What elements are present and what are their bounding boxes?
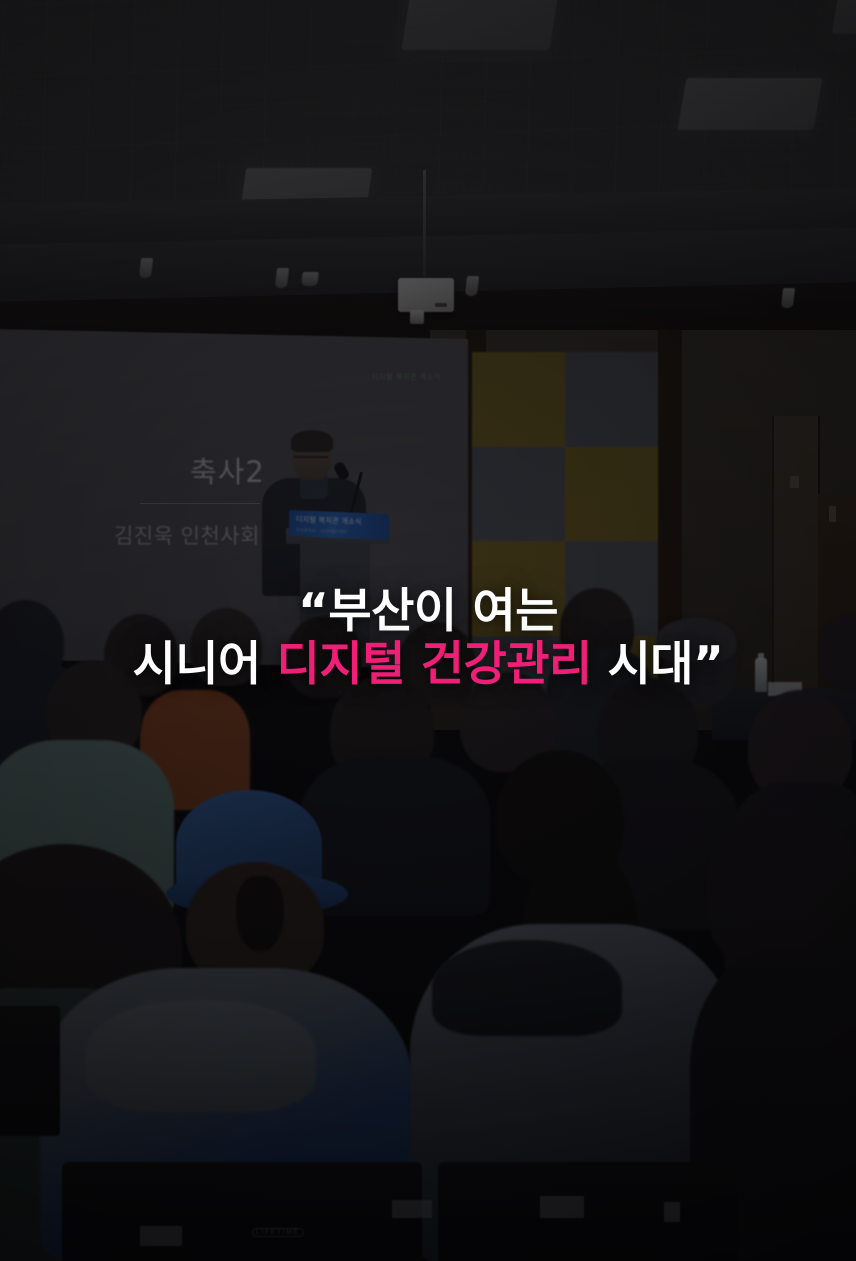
acoustic-panel-yellow	[472, 352, 565, 447]
chair-brand-logo: LIFETIME	[252, 1228, 304, 1237]
chair-back	[438, 1162, 738, 1261]
ceiling-light-panel	[677, 78, 822, 130]
acoustic-panel-gray	[472, 447, 565, 542]
acoustic-panel-yellow	[472, 541, 565, 636]
projector-lens	[410, 310, 424, 324]
speaker-hair	[291, 430, 333, 452]
ceiling-projector	[398, 278, 454, 312]
door-sign-plate	[790, 476, 799, 488]
chair-label-sticker	[392, 1200, 432, 1218]
audience-head-with-beret	[656, 618, 736, 662]
door-sign-plate	[829, 506, 836, 522]
photo-canvas: 디지털 복지관 개소식 축사2 김진욱 인천사회 사업 디지털 복지관 개소식 …	[0, 0, 856, 1261]
audience-head-front	[706, 806, 856, 976]
speaker-glasses	[294, 456, 328, 465]
chair-back	[0, 1006, 60, 1136]
acoustic-panel-yellow	[565, 447, 658, 542]
event-photograph: 디지털 복지관 개소식 축사2 김진욱 인천사회 사업 디지털 복지관 개소식 …	[0, 0, 856, 1261]
slide-corner-note: 디지털 복지관 개소식	[372, 372, 441, 382]
acoustic-panel-gray	[565, 352, 658, 447]
chair-label-sticker	[664, 1202, 680, 1222]
chair-label-sticker	[540, 1196, 584, 1218]
projector-mount-rod	[423, 170, 426, 276]
chair-back	[62, 1162, 422, 1261]
podium-banner-title: 디지털 복지관 개소식	[296, 514, 362, 527]
podium-banner: 디지털 복지관 개소식 부산광역시 · 시니어헬스케어	[289, 510, 389, 540]
audience-ponytail	[236, 876, 284, 952]
slide-divider-rule	[140, 503, 260, 504]
audience-head	[190, 608, 262, 686]
audience-jacket-hood	[86, 1000, 316, 1112]
water-bottle	[755, 658, 767, 692]
slide-title: 축사2	[190, 449, 265, 491]
ceiling-light-panel	[401, 0, 558, 50]
track-light-fixture	[301, 272, 318, 286]
audience-puffer-collar	[432, 940, 622, 1036]
podium-banner-subtitle: 부산광역시 · 시니어헬스케어	[296, 527, 347, 535]
chair-label-sticker	[140, 1226, 182, 1246]
